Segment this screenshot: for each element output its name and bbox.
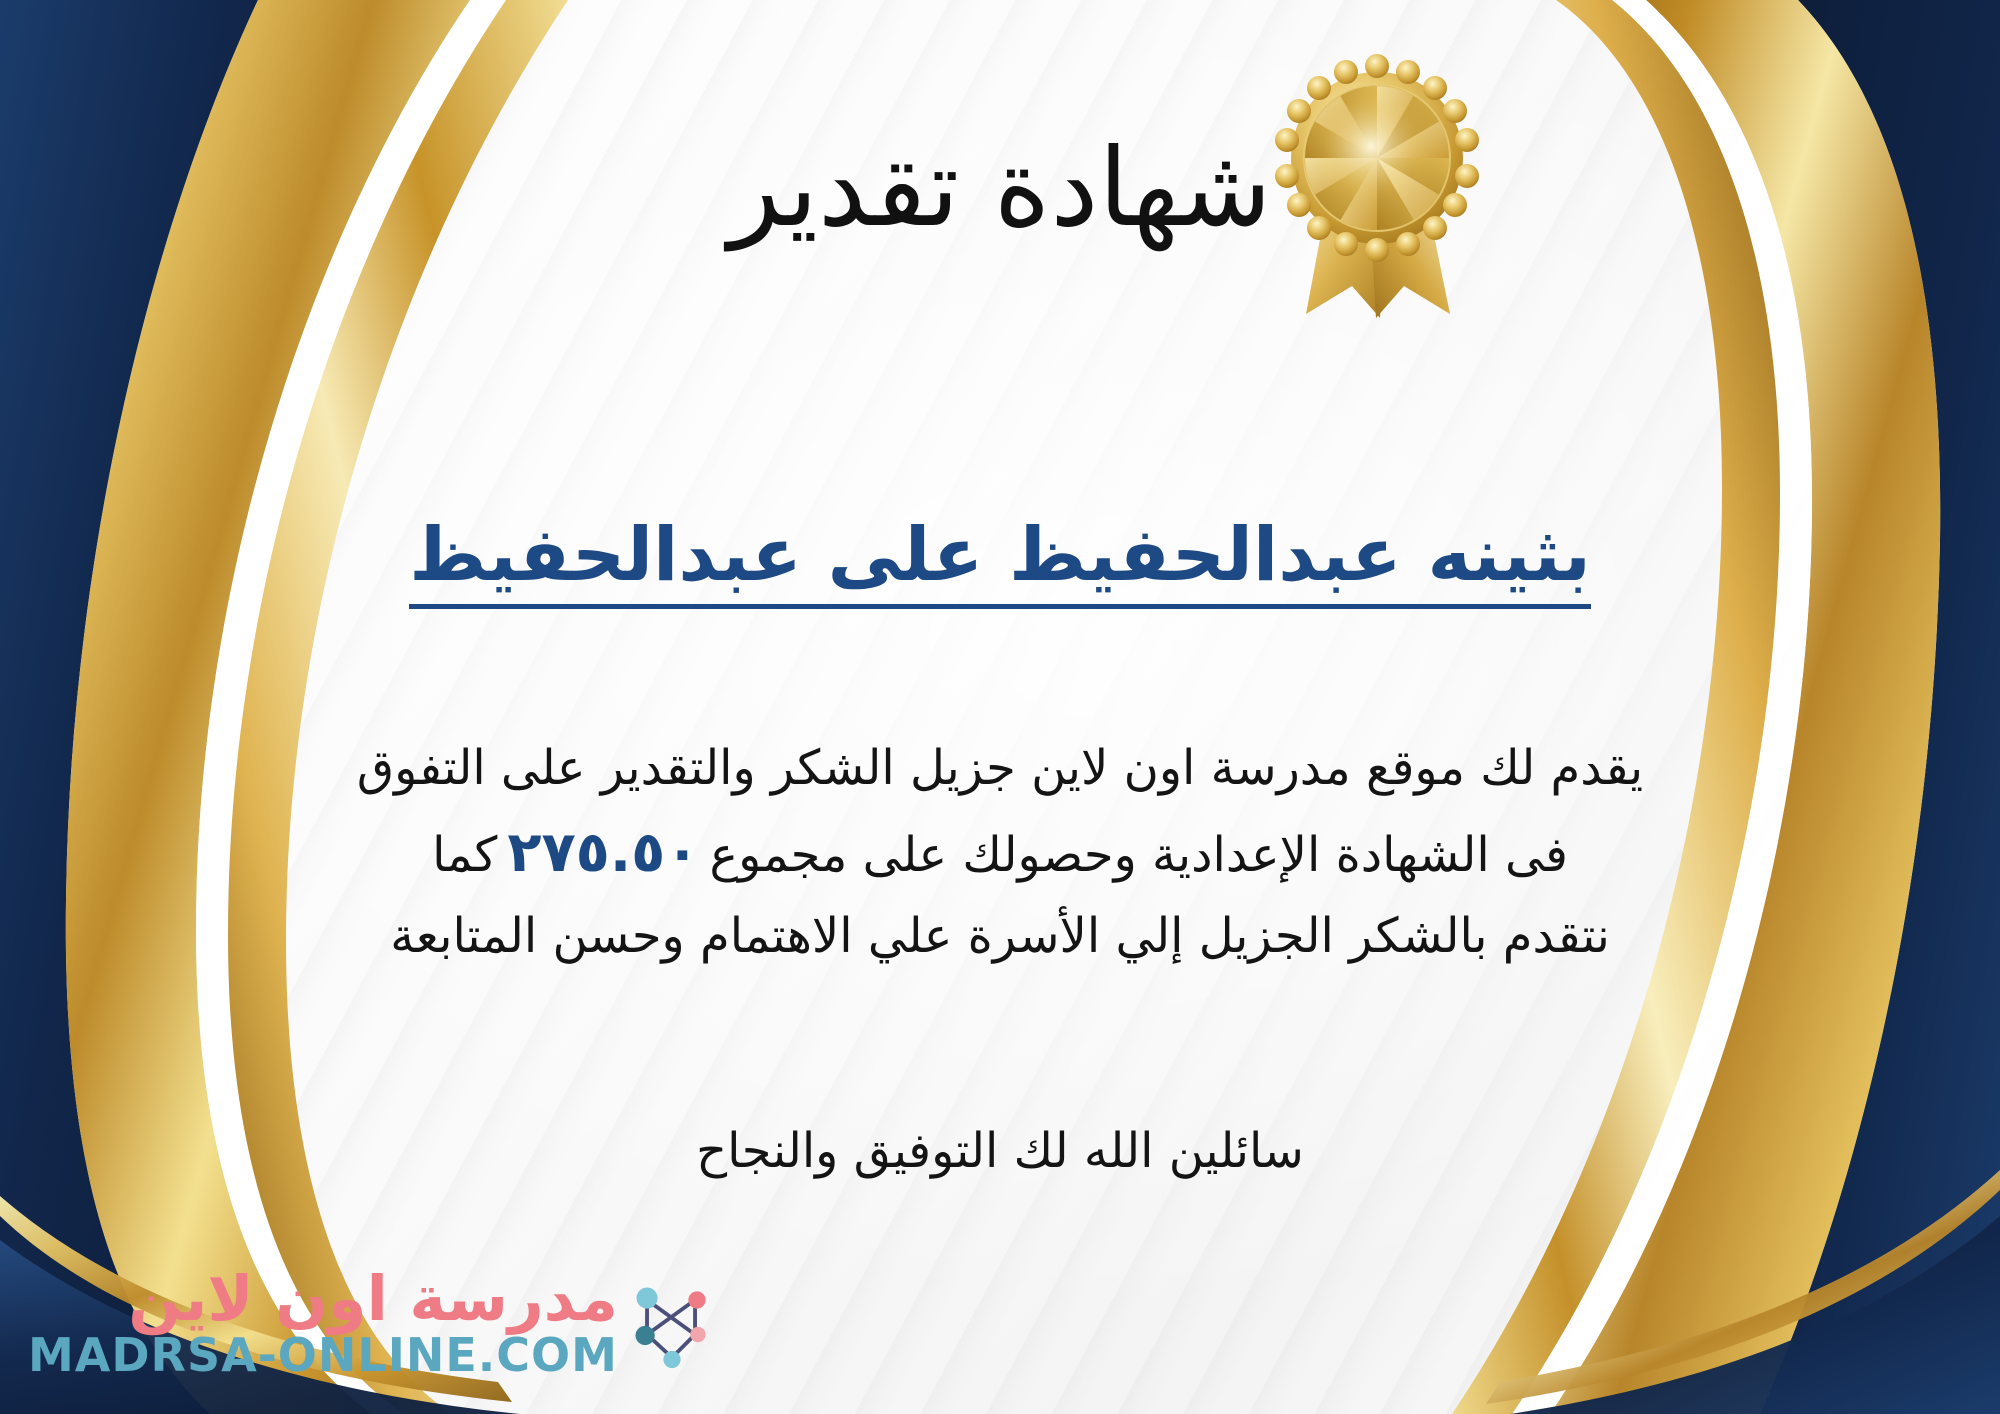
brand-url: MADRSA-ONLINE.COM [28, 1332, 618, 1378]
network-nodes-icon [624, 1275, 720, 1371]
body-line-2: فى الشهادة الإعدادية وحصولك على مجموع٢٧٥… [70, 808, 1930, 899]
body-line-2-prefix: فى الشهادة الإعدادية وحصولك على مجموع [709, 827, 1567, 883]
recipient-row: بثينه عبدالحفيظ على عبدالحفيظ [0, 510, 2000, 609]
page-title: شهادة تقدير [0, 132, 2000, 245]
certificate-page: شهادة تقدير بثينه عبدالحفيظ على عبدالحفي… [0, 0, 2000, 1414]
brand-arabic-name: مدرسة اون لاين [128, 1268, 618, 1330]
brand-logo[interactable]: مدرسة اون لاين MADRSA-ONLINE.COM [28, 1268, 720, 1378]
closing-line: سائلين الله لك التوفيق والنجاح [0, 1115, 2000, 1187]
brand-text: مدرسة اون لاين MADRSA-ONLINE.COM [28, 1268, 618, 1378]
body-line-2-suffix: كما [432, 827, 497, 883]
recipient-name: بثينه عبدالحفيظ على عبدالحفيظ [409, 510, 1591, 609]
body-line-1: يقدم لك موقع مدرسة اون لاين جزيل الشكر و… [70, 730, 1930, 808]
total-score-value: ٢٧٥.٥٠ [497, 820, 709, 885]
body-line-3: نتقدم بالشكر الجزيل إلي الأسرة علي الاهت… [70, 898, 1930, 976]
body-text: يقدم لك موقع مدرسة اون لاين جزيل الشكر و… [70, 730, 1930, 976]
